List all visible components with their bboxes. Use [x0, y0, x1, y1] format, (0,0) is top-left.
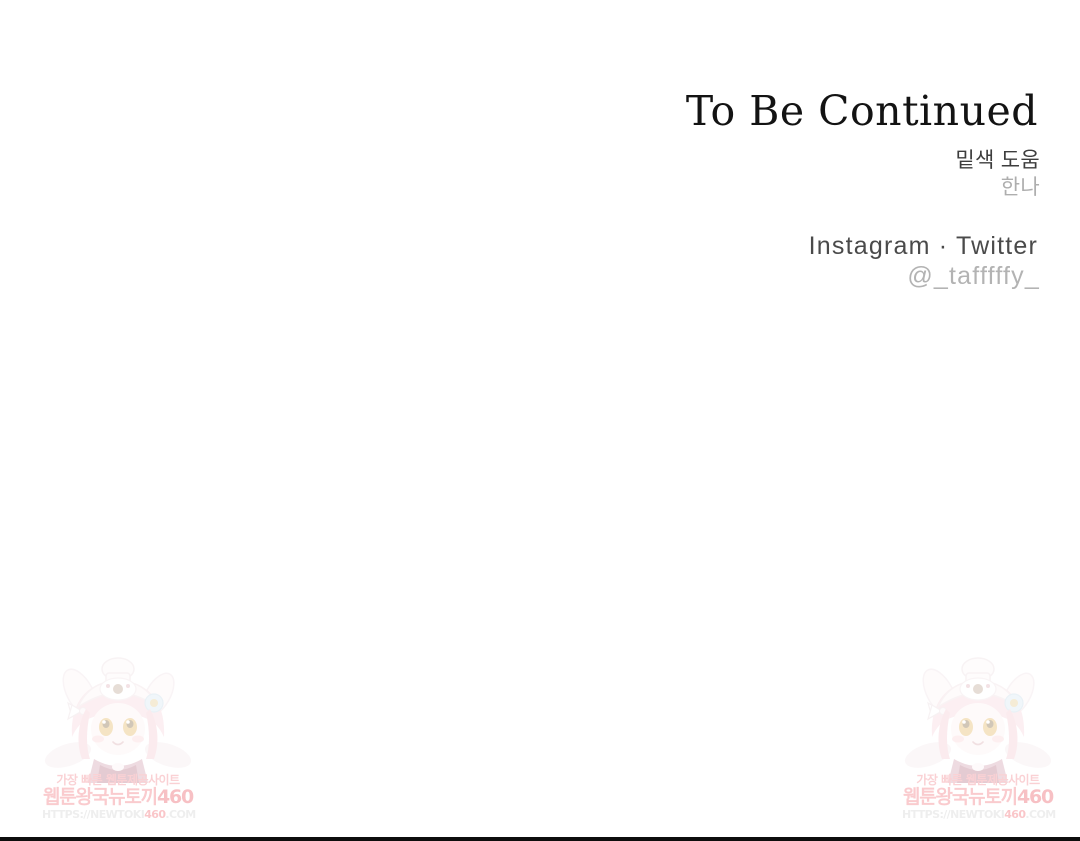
credits-block: To Be Continued 밑색 도움 한나 Instagram · Twi… [0, 0, 1080, 320]
watermark-character-icon [42, 655, 194, 783]
watermark-url-number: 460 [1004, 808, 1025, 821]
watermark-site-number: 460 [157, 786, 193, 808]
bottom-edge-band [0, 837, 1080, 841]
watermark-site-name-text: 웹툰왕국뉴토끼 [903, 786, 1017, 808]
watermark-text-right: 가장 빠른 웹툰제공사이트 웹툰왕국뉴토끼460 HTTPS://NEWTOKI… [902, 773, 1054, 821]
watermark-stamp-right: 가장 빠른 웹툰제공사이트 웹툰왕국뉴토끼460 HTTPS://NEWTOKI… [902, 655, 1054, 830]
watermark-site-name: 웹툰왕국뉴토끼460 [42, 787, 194, 808]
watermark-url-suffix: .COM [1025, 808, 1055, 821]
watermark-site-name: 웹툰왕국뉴토끼460 [902, 787, 1054, 808]
watermark-tagline: 가장 빠른 웹툰제공사이트 [42, 773, 194, 787]
page-title: To Be Continued [686, 88, 1038, 134]
watermark-url: HTTPS://NEWTOKI460.COM [42, 808, 194, 821]
credit-assistant-name: 한나 [1001, 175, 1040, 201]
social-platforms-label: Instagram · Twitter [809, 232, 1038, 261]
watermark-site-number: 460 [1017, 786, 1053, 808]
watermark-url-suffix: .COM [165, 808, 195, 821]
social-handle: @_tafffffy_ [907, 262, 1040, 291]
watermark-text-left: 가장 빠른 웹툰제공사이트 웹툰왕국뉴토끼460 HTTPS://NEWTOKI… [42, 773, 194, 821]
watermark-site-name-text: 웹툰왕국뉴토끼 [43, 786, 157, 808]
watermark-character-icon [902, 655, 1054, 783]
watermark-url-prefix: HTTPS://NEWTOKI [42, 808, 144, 821]
credit-role-label: 밑색 도움 [955, 148, 1040, 174]
watermark-tagline: 가장 빠른 웹툰제공사이트 [902, 773, 1054, 787]
watermark-stamp-left: 가장 빠른 웹툰제공사이트 웹툰왕국뉴토끼460 HTTPS://NEWTOKI… [42, 655, 194, 830]
watermark-url-prefix: HTTPS://NEWTOKI [902, 808, 1004, 821]
watermark-url: HTTPS://NEWTOKI460.COM [902, 808, 1054, 821]
watermark-url-number: 460 [144, 808, 165, 821]
webtoon-end-card-page: To Be Continued 밑색 도움 한나 Instagram · Twi… [0, 0, 1080, 841]
